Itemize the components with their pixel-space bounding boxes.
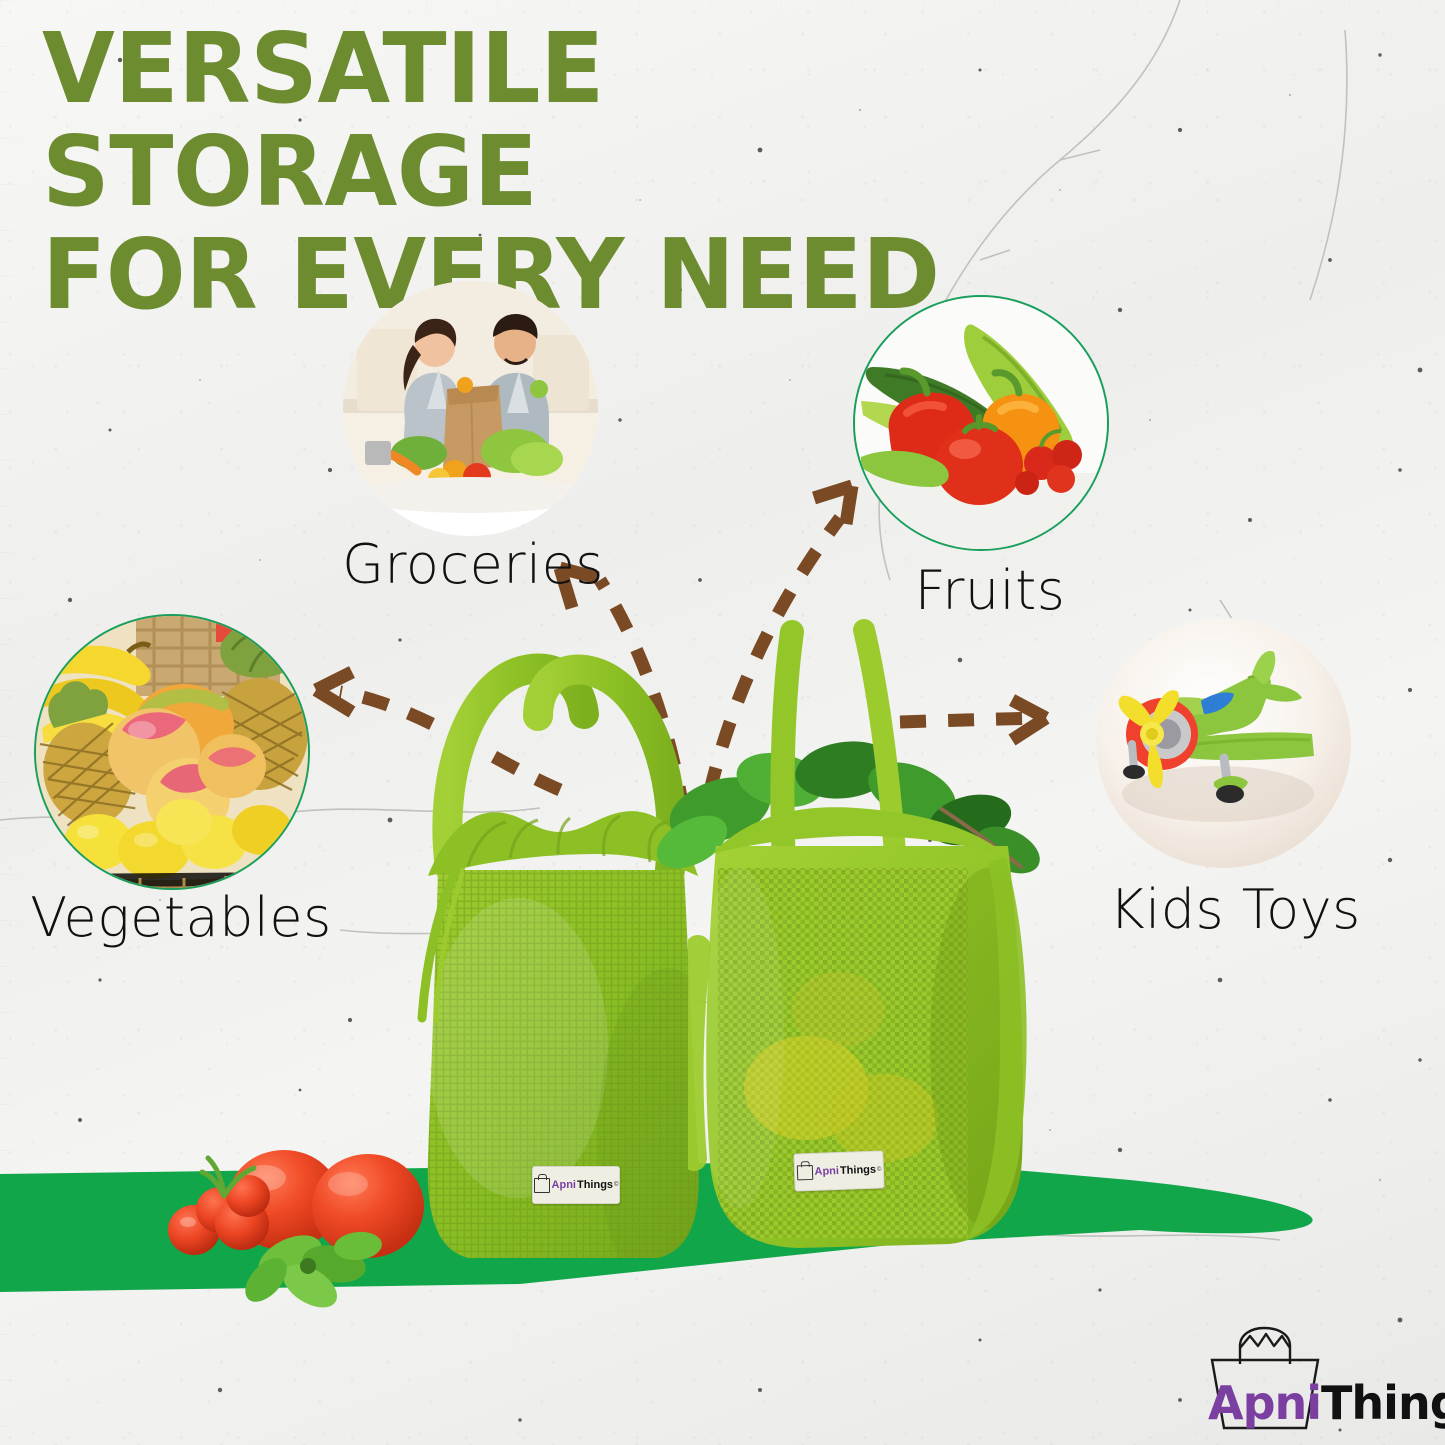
tag-copyright: © xyxy=(614,1182,618,1188)
category-kids-toys[interactable]: Kids Toys xyxy=(1096,618,1386,958)
product-mesh-tote: ApniThings© xyxy=(688,618,1048,1258)
category-vegetables[interactable]: Vegetables xyxy=(36,616,326,956)
groceries-image xyxy=(343,281,598,536)
tag-bag-icon xyxy=(796,1164,813,1180)
arrowhead-fruits xyxy=(814,486,852,524)
groceries-label: Groceries xyxy=(342,533,604,596)
tag-copyright: © xyxy=(877,1167,882,1173)
brand-things-text: Things xyxy=(1321,1376,1445,1430)
tag-things-text: Things xyxy=(577,1179,613,1191)
tote-strap-tail xyxy=(691,948,698,1158)
pouch-brand-tag: ApniThings© xyxy=(532,1166,620,1204)
headline-line-1: VERSATILE STORAGE xyxy=(42,12,604,228)
plane-wing-near xyxy=(1188,732,1314,760)
tag-things-text: Things xyxy=(840,1164,876,1177)
vegetables-label: Vegetables xyxy=(30,886,332,949)
vegetables-image xyxy=(36,616,308,888)
tag-bag-icon xyxy=(534,1178,550,1193)
fruits-label: Fruits xyxy=(915,559,1066,622)
infographic-canvas: VERSATILE STORAGE FOR EVERY NEED xyxy=(0,0,1445,1445)
category-fruits[interactable]: Fruits xyxy=(855,297,1125,637)
kids-toys-label: Kids Toys xyxy=(1109,878,1360,941)
tag-apni-text: Apni xyxy=(814,1165,839,1178)
tag-apni-text: Apni xyxy=(552,1179,576,1191)
kids-toys-image xyxy=(1096,618,1351,868)
tomato xyxy=(935,425,1023,505)
brand-logo[interactable]: ApniThings© xyxy=(1200,1322,1425,1434)
tomatoes-and-basil-decoration xyxy=(96,1128,436,1318)
tote-brand-tag: ApniThings© xyxy=(793,1150,884,1191)
category-groceries[interactable]: Groceries xyxy=(343,281,603,611)
brand-wordmark: ApniThings© xyxy=(1208,1376,1445,1430)
brand-apni-text: Apni xyxy=(1208,1376,1321,1430)
fruits-image xyxy=(855,297,1107,549)
